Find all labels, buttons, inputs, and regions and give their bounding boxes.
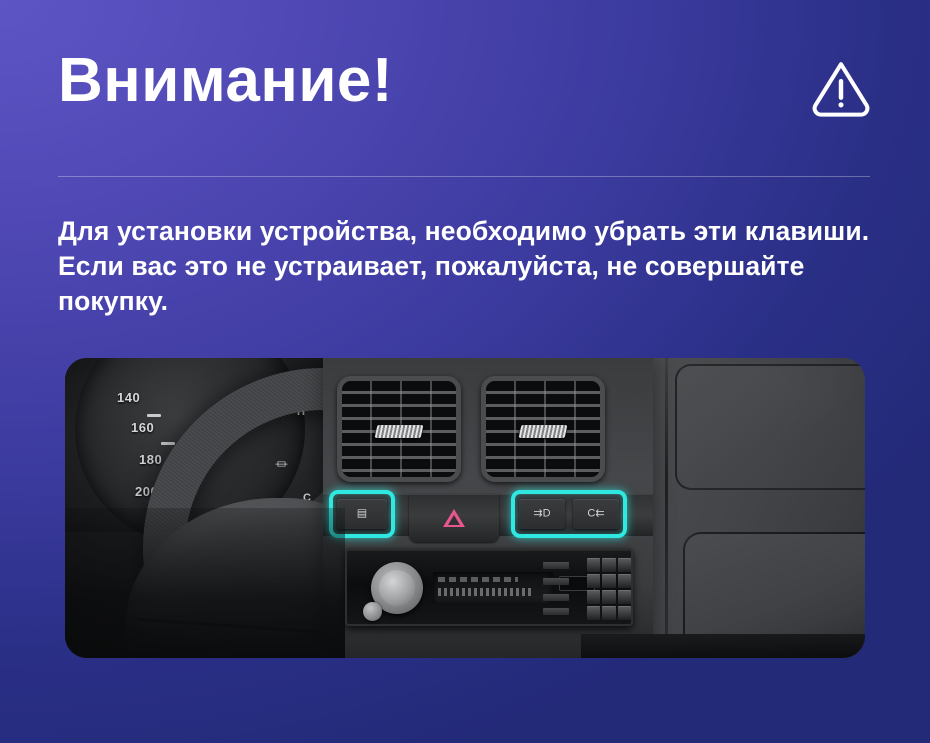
- upper-dash-panel: [675, 364, 865, 490]
- message-line-2: Если вас это не устраивает, пожалуйста, …: [58, 249, 858, 284]
- preset-key[interactable]: [602, 606, 615, 620]
- footwell-shadow: [65, 508, 345, 658]
- vent-thumbwheel-left[interactable]: [375, 425, 424, 438]
- hazard-triangle-icon: [443, 509, 465, 527]
- preset-key[interactable]: [618, 558, 631, 572]
- switch-row: ▤ ⇉D C⇇: [323, 494, 653, 536]
- center-console: ▤ ⇉D C⇇: [323, 358, 653, 658]
- header-divider: [58, 176, 870, 177]
- banner-header: Внимание!: [58, 48, 872, 148]
- hazard-lights-button[interactable]: [409, 494, 499, 542]
- highlight-box-fog-lights: [511, 490, 627, 538]
- preset-key[interactable]: [587, 574, 600, 588]
- radio-function-buttons[interactable]: [543, 560, 579, 616]
- air-vent-left: [337, 376, 461, 482]
- volume-knob-inner: [379, 570, 415, 606]
- preset-key[interactable]: [587, 558, 600, 572]
- gauge-tick-160: 160: [131, 420, 154, 435]
- message-line-3: покупку.: [58, 284, 858, 319]
- preset-key[interactable]: [618, 590, 631, 604]
- dash-vertical-seam: [665, 358, 668, 658]
- radio-function-button[interactable]: [543, 608, 569, 615]
- gauge-tick-mark-1: [147, 414, 161, 417]
- display-text-row-2: [438, 588, 532, 596]
- radio-display: [433, 572, 553, 604]
- radio-preset-keypad[interactable]: [587, 558, 631, 620]
- radio-function-button[interactable]: [543, 578, 569, 585]
- console-lower-trim: [581, 634, 865, 658]
- warning-triangle-icon: [810, 56, 872, 118]
- page-title: Внимание!: [58, 48, 393, 113]
- display-text-row-1: [438, 577, 518, 582]
- air-vent-right: [481, 376, 605, 482]
- radio-function-button[interactable]: [543, 594, 569, 601]
- gauge-tick-140: 140: [117, 390, 140, 405]
- preset-key[interactable]: [618, 606, 631, 620]
- preset-key[interactable]: [602, 558, 615, 572]
- warning-banner: Внимание! Для установки устройства, необ…: [0, 0, 930, 743]
- radio-function-button[interactable]: [543, 562, 569, 569]
- preset-key[interactable]: [618, 574, 631, 588]
- preset-key[interactable]: [602, 590, 615, 604]
- vent-thumbwheel-right[interactable]: [519, 425, 568, 438]
- car-stereo-head-unit: [345, 548, 633, 626]
- dashboard-photo: km/h 140 160 180 200 ⏛ H C: [65, 358, 865, 658]
- secondary-knob[interactable]: [363, 602, 382, 621]
- preset-key[interactable]: [602, 574, 615, 588]
- preset-key[interactable]: [587, 590, 600, 604]
- gauge-tick-180: 180: [139, 452, 162, 467]
- message-line-1: Для установки устройства, необходимо убр…: [58, 214, 858, 249]
- warning-message: Для установки устройства, необходимо убр…: [58, 214, 858, 319]
- preset-key[interactable]: [587, 606, 600, 620]
- gauge-tick-mark-2: [161, 442, 175, 445]
